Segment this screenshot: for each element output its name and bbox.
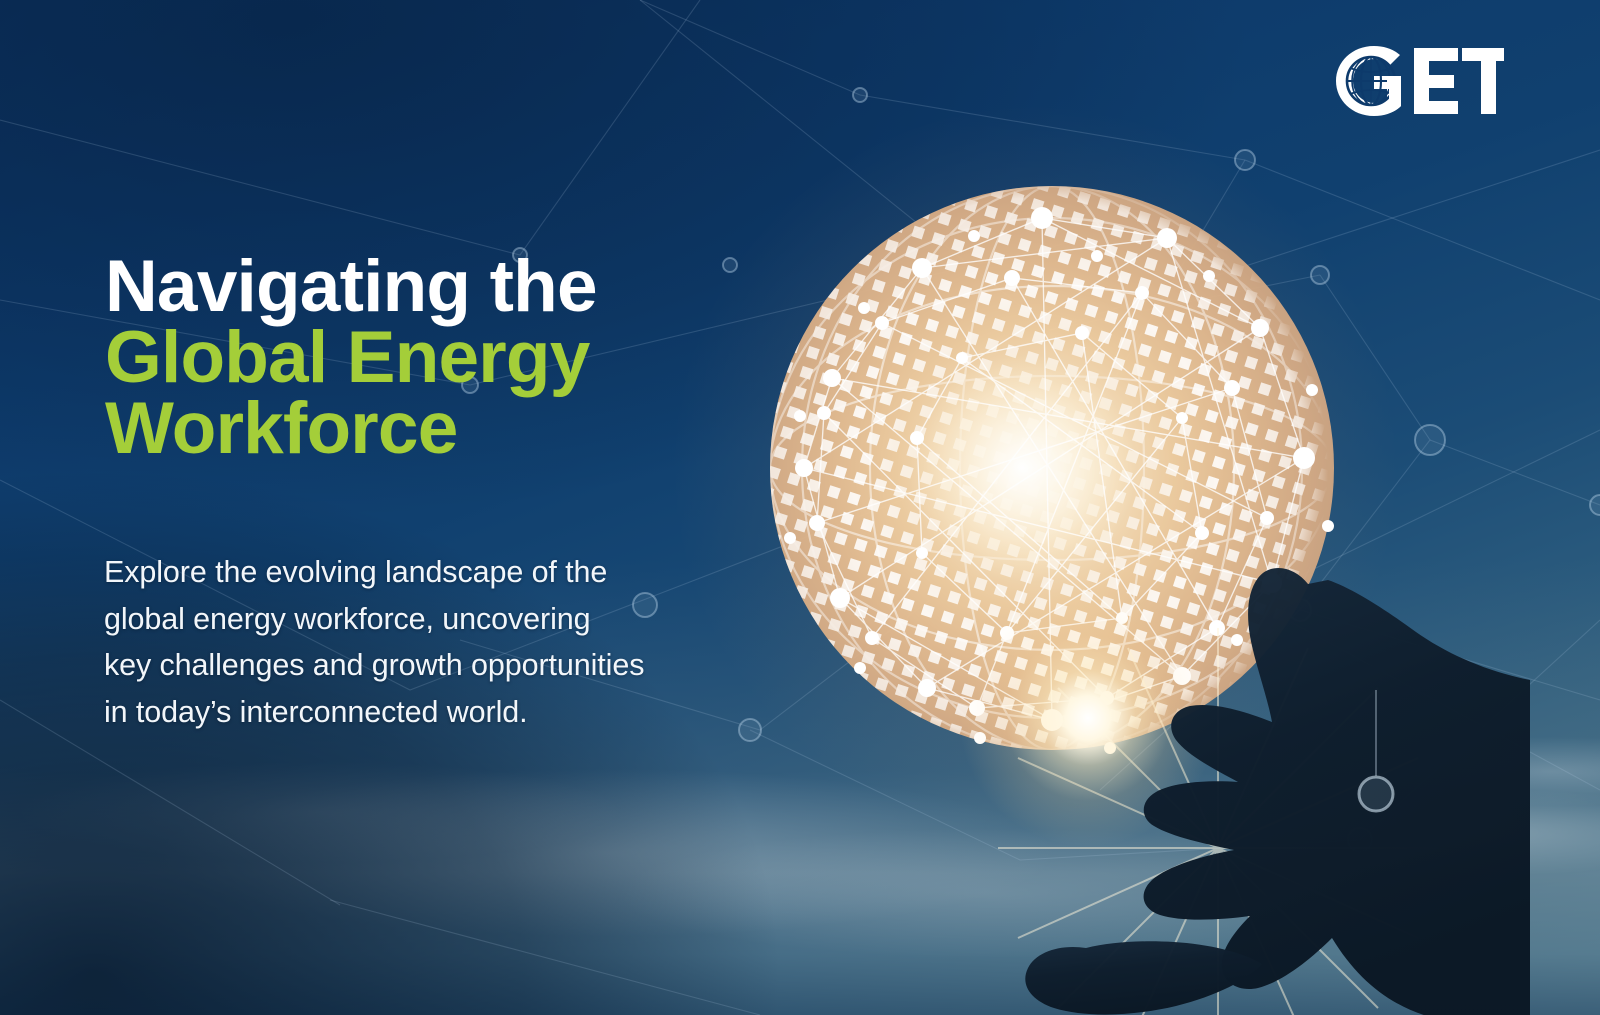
get-logo[interactable]: [1332, 42, 1504, 120]
headline-line-3: Workforce: [105, 394, 765, 465]
headline-line-1: Navigating the: [105, 252, 765, 323]
headline-block: Navigating the Global Energy Workforce: [105, 252, 765, 464]
subheadline-line-2: global energy workforce, uncovering: [104, 596, 744, 643]
subheadline-line-3: key challenges and growth opportunities: [104, 642, 744, 689]
globe-node-network: [712, 128, 1392, 808]
subheadline-line-4: in today’s interconnected world.: [104, 689, 744, 736]
subheadline-line-1: Explore the evolving landscape of the: [104, 549, 744, 596]
subheadline-block: Explore the evolving landscape of the gl…: [104, 549, 744, 736]
hero-banner: Navigating the Global Energy Workforce E…: [0, 0, 1600, 1015]
network-globe: [752, 168, 1352, 768]
get-logo-mark: [1332, 42, 1504, 120]
headline-line-2: Global Energy: [105, 323, 765, 394]
